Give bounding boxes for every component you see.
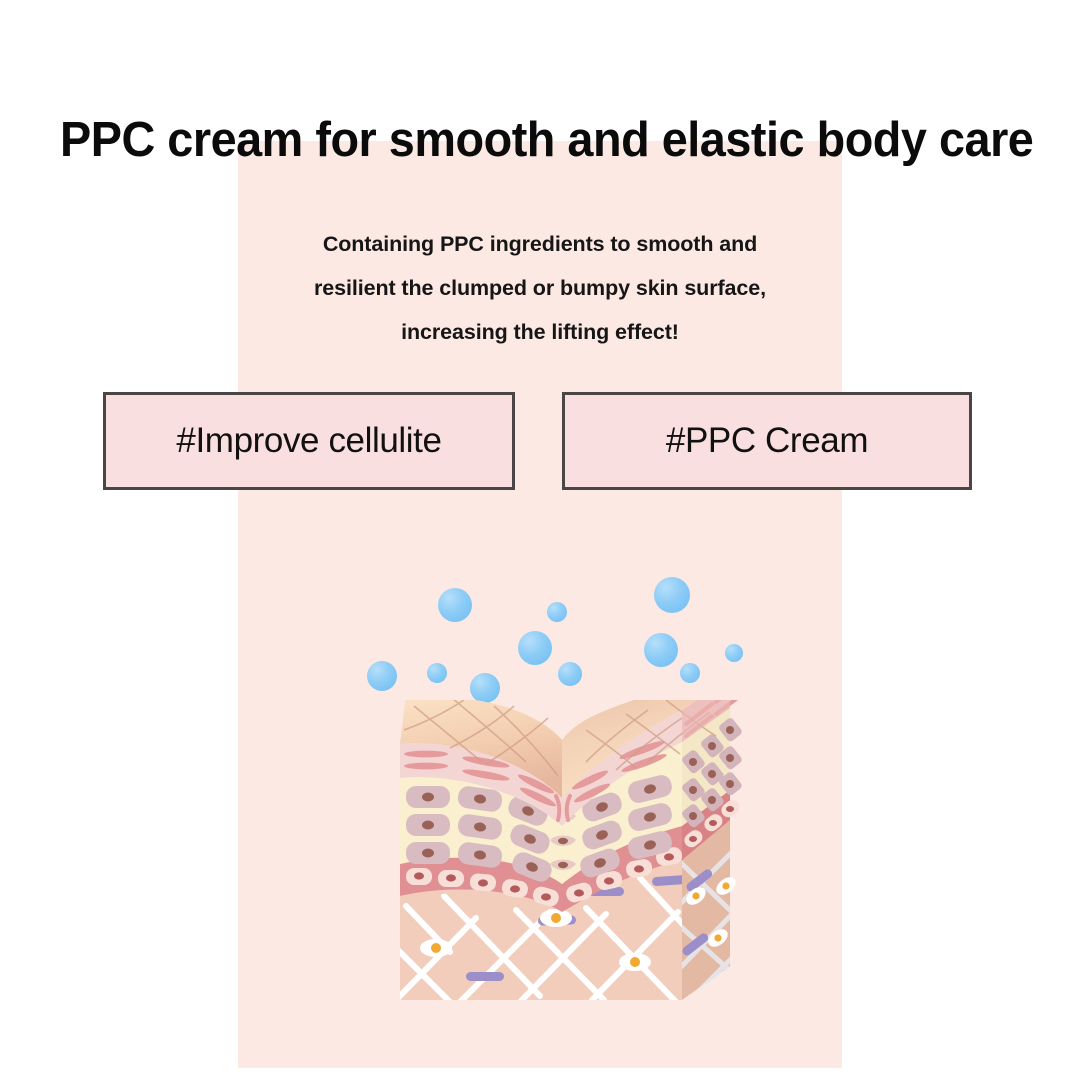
bubble-1 <box>367 661 397 691</box>
hashtag-chip-right-label: #PPC Cream <box>666 421 868 461</box>
hashtag-chip-improve-cellulite[interactable]: #Improve cellulite <box>103 392 515 490</box>
description-line-3: increasing the lifting effect! <box>238 310 842 354</box>
description-paragraph: Containing PPC ingredients to smooth and… <box>238 222 842 354</box>
description-line-2: resilient the clumped or bumpy skin surf… <box>238 266 842 310</box>
description-line-1: Containing PPC ingredients to smooth and <box>238 222 842 266</box>
bubble-9 <box>654 577 690 613</box>
bubble-5 <box>518 631 552 665</box>
bubble-6 <box>547 602 567 622</box>
bubble-2 <box>427 663 447 683</box>
bubble-7 <box>558 662 582 686</box>
hashtag-chip-left-label: #Improve cellulite <box>176 421 441 461</box>
page-title: PPC cream for smooth and elastic body ca… <box>60 115 1015 167</box>
bubble-8 <box>644 633 678 667</box>
bubble-11 <box>725 644 743 662</box>
hashtag-chip-ppc-cream[interactable]: #PPC Cream <box>562 392 972 490</box>
bubble-3 <box>438 588 472 622</box>
bubble-10 <box>680 663 700 683</box>
bubble-4 <box>470 673 500 703</box>
skin-cross-section-diagram <box>390 700 742 1040</box>
poster-canvas: PPC cream for smooth and elastic body ca… <box>0 0 1080 1080</box>
